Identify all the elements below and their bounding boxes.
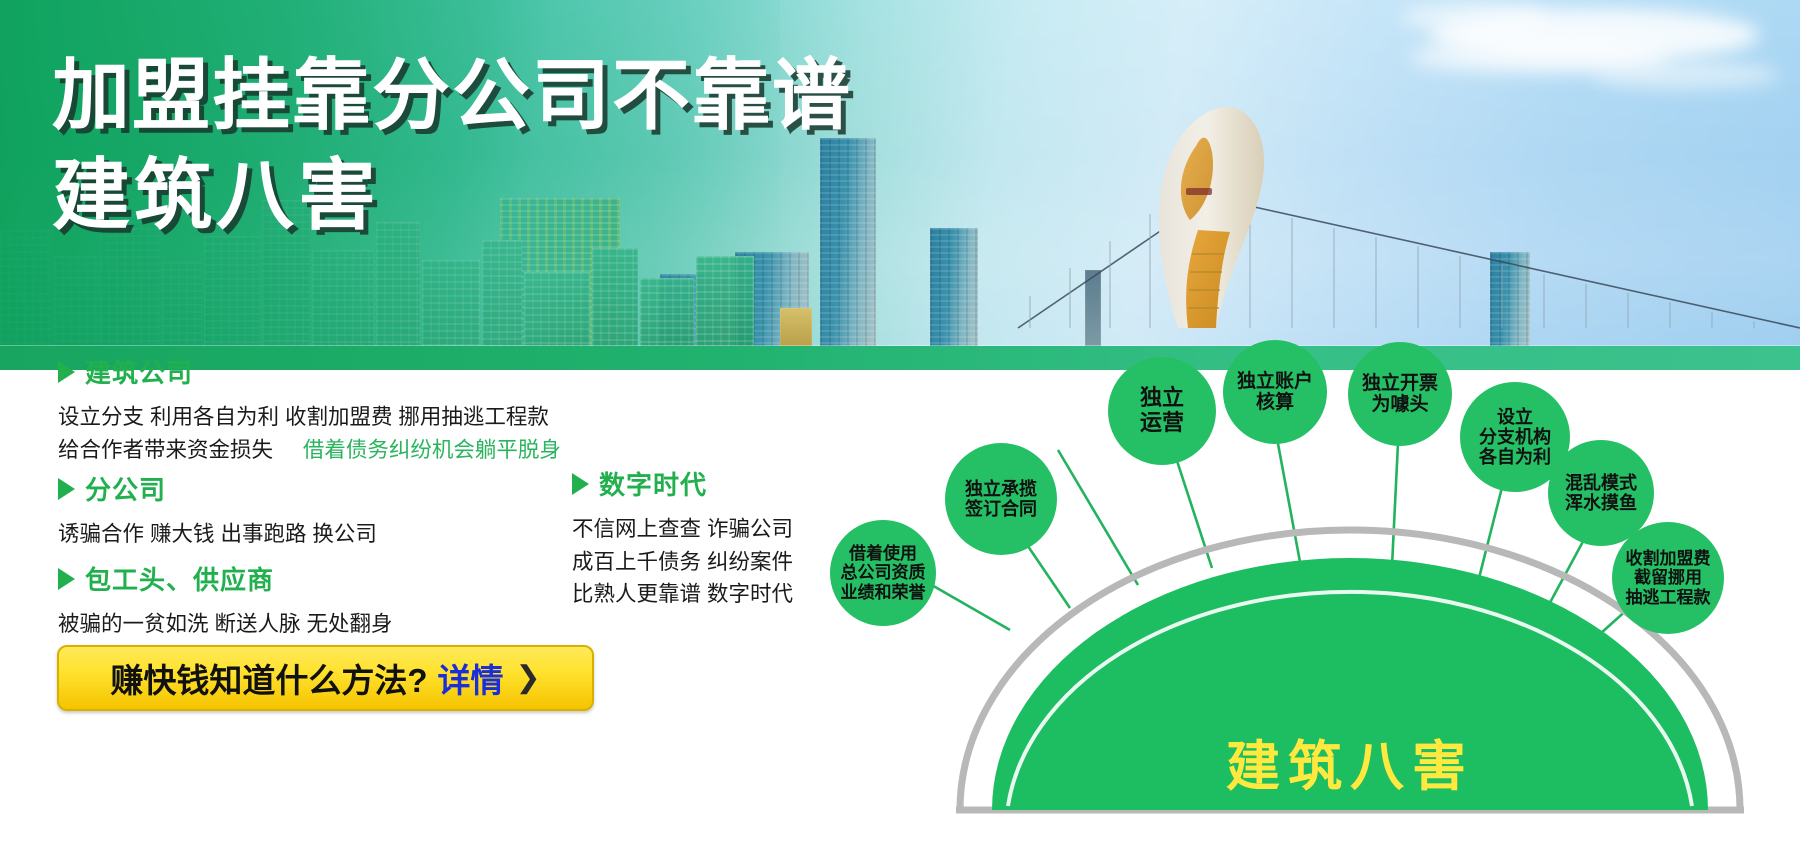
section-company-line-2-plain: 给合作者带来资金损失 bbox=[58, 438, 273, 462]
bubble-6-line-1: 设立 bbox=[1497, 407, 1533, 427]
bubble-4[interactable]: 独立账户 核算 bbox=[1223, 340, 1327, 444]
section-company-header: 建筑公司 bbox=[58, 353, 561, 390]
bubble-6-line-3: 各自为利 bbox=[1479, 447, 1551, 467]
bubble-4-line-1: 独立账户 bbox=[1237, 371, 1313, 392]
promo-banner: 加盟挂靠分公司不靠谱 建筑八害 建筑公司 设立分支 利用各自为利 收割加盟费 挪… bbox=[0, 0, 1800, 844]
section-digital-header: 数字时代 bbox=[572, 465, 793, 502]
section-branch: 分公司 诱骗合作 赚大钱 出事跑路 换公司 bbox=[58, 470, 377, 551]
hero-title-line-1: 加盟挂靠分公司不靠谱 bbox=[52, 56, 852, 134]
section-digital-line-3: 比熟人更靠谱 数字时代 bbox=[572, 578, 793, 611]
section-digital-title: 数字时代 bbox=[599, 465, 707, 502]
hero-banner: 加盟挂靠分公司不靠谱 建筑八害 bbox=[0, 0, 1800, 370]
section-digital-line-1: 不信网上查查 诈骗公司 bbox=[572, 513, 793, 546]
bubble-5-line-2: 为噱头 bbox=[1371, 394, 1428, 415]
bubble-3-line-2: 运营 bbox=[1140, 410, 1184, 435]
section-company: 建筑公司 设立分支 利用各自为利 收割加盟费 挪用抽逃工程款 给合作者带来资金损… bbox=[58, 353, 561, 466]
section-digital: 数字时代 不信网上查查 诈骗公司 成百上千债务 纠纷案件 比熟人更靠谱 数字时代 bbox=[572, 465, 793, 611]
section-company-line-2: 给合作者带来资金损失 借着债务纠纷机会躺平脱身 bbox=[58, 434, 561, 467]
bubble-4-line-2: 核算 bbox=[1256, 392, 1294, 413]
section-branch-header: 分公司 bbox=[58, 470, 377, 507]
bubble-5[interactable]: 独立开票 为噱头 bbox=[1348, 342, 1452, 446]
bubble-1-line-2: 总公司资质 bbox=[841, 563, 926, 582]
bubble-7-line-2: 浑水摸鱼 bbox=[1565, 493, 1637, 513]
section-digital-line-2: 成百上千债务 纠纷案件 bbox=[572, 546, 793, 579]
diagram-eight-harms: 建筑八害 借着使用 总公司资质 业绩和荣誉 独立承揽 签订合同 独立 运营 独立… bbox=[900, 330, 1800, 844]
cta-main-label: 赚快钱知道什么方法? bbox=[110, 654, 427, 702]
section-company-line-1: 设立分支 利用各自为利 收割加盟费 挪用抽逃工程款 bbox=[58, 401, 561, 434]
bubble-7-line-1: 混乱模式 bbox=[1565, 473, 1637, 493]
bubble-1[interactable]: 借着使用 总公司资质 业绩和荣誉 bbox=[830, 520, 936, 626]
bubble-1-line-1: 借着使用 bbox=[849, 544, 917, 563]
bubble-8-line-3: 抽逃工程款 bbox=[1626, 588, 1711, 607]
bubble-2-line-2: 签订合同 bbox=[965, 499, 1037, 519]
chevron-right-icon: ❯ bbox=[516, 663, 541, 693]
building-silhouette bbox=[780, 308, 812, 348]
triangle-bullet-icon bbox=[58, 568, 75, 590]
section-branch-title: 分公司 bbox=[85, 470, 166, 507]
left-content: 建筑公司 设立分支 利用各自为利 收割加盟费 挪用抽逃工程款 给合作者带来资金损… bbox=[0, 370, 900, 844]
bubble-1-line-3: 业绩和荣誉 bbox=[841, 583, 926, 602]
section-contractor-body: 被骗的一贫如洗 断送人脉 无处翻身 bbox=[58, 608, 392, 641]
section-company-line-2-highlight: 借着债务纠纷机会躺平脱身 bbox=[303, 438, 561, 462]
hero-title-line-2: 建筑八害 bbox=[52, 156, 852, 234]
section-company-body: 设立分支 利用各自为利 收割加盟费 挪用抽逃工程款 给合作者带来资金损失 借着债… bbox=[58, 401, 561, 466]
cta-details-link[interactable]: 详情 bbox=[438, 654, 504, 702]
bubble-3[interactable]: 独立 运营 bbox=[1108, 357, 1216, 465]
cta-button[interactable]: 赚快钱知道什么方法? 详情 ❯ bbox=[57, 645, 594, 711]
bubble-8-line-2: 截留挪用 bbox=[1634, 568, 1702, 587]
triangle-bullet-icon bbox=[58, 361, 75, 383]
bubble-8-line-1: 收割加盟费 bbox=[1626, 549, 1711, 568]
section-contractor: 包工头、供应商 被骗的一贫如洗 断送人脉 无处翻身 bbox=[58, 560, 392, 641]
section-digital-body: 不信网上查查 诈骗公司 成百上千债务 纠纷案件 比熟人更靠谱 数字时代 bbox=[572, 513, 793, 611]
bubble-2-line-1: 独立承揽 bbox=[965, 479, 1037, 499]
section-contractor-title: 包工头、供应商 bbox=[85, 560, 274, 597]
bubble-8[interactable]: 收割加盟费 截留挪用 抽逃工程款 bbox=[1612, 522, 1724, 634]
bubble-2[interactable]: 独立承揽 签订合同 bbox=[945, 443, 1057, 555]
page-title: 加盟挂靠分公司不靠谱 建筑八害 bbox=[52, 56, 852, 234]
bubble-6-line-2: 分支机构 bbox=[1479, 427, 1551, 447]
triangle-bullet-icon bbox=[58, 478, 75, 500]
bridge-illustration bbox=[1000, 28, 1800, 348]
section-branch-body: 诱骗合作 赚大钱 出事跑路 换公司 bbox=[58, 518, 377, 551]
triangle-bullet-icon bbox=[572, 473, 589, 495]
section-contractor-header: 包工头、供应商 bbox=[58, 560, 392, 597]
section-company-title: 建筑公司 bbox=[85, 353, 193, 390]
bubble-3-line-1: 独立 bbox=[1140, 385, 1184, 410]
bubble-5-line-1: 独立开票 bbox=[1362, 373, 1438, 394]
